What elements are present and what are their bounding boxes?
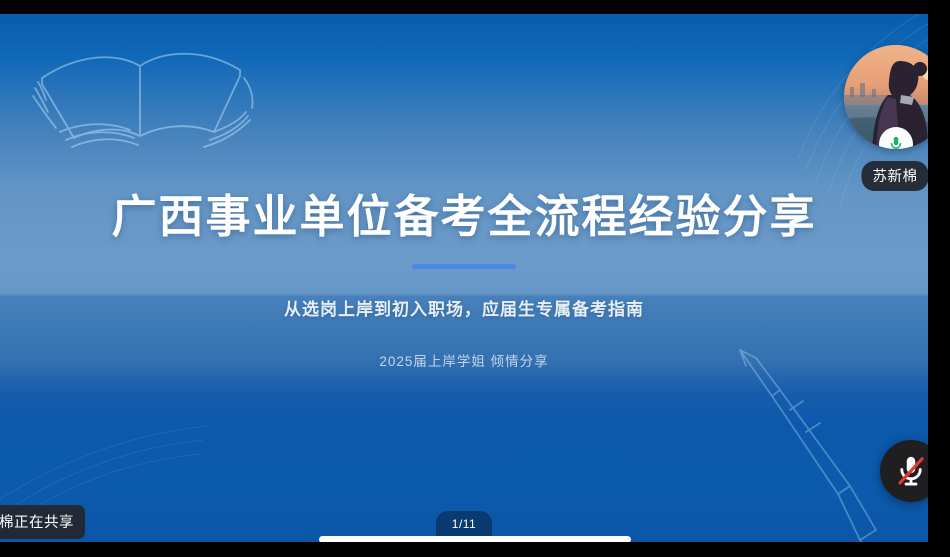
slide-subtitle: 从选岗上岸到初入职场，应届生专属备考指南	[40, 295, 888, 320]
letterbox-bottom	[0, 542, 950, 557]
pen-icon	[710, 344, 900, 542]
slide-title: 广西事业单位备考全流程经验分享	[40, 190, 888, 243]
open-book-icon	[18, 26, 270, 174]
microphone-off-icon	[894, 454, 928, 488]
microphone-icon	[887, 135, 905, 149]
participant-name-label: 苏新棉	[862, 161, 929, 191]
slide-text-block: 广西事业单位备考全流程经验分享 从选岗上岸到初入职场，应届生专属备考指南 202…	[0, 190, 928, 370]
letterbox-right	[928, 0, 950, 557]
slide-byline: 2025届上岸学姐 倾情分享	[40, 350, 888, 370]
screen-share-viewer: 广西事业单位备考全流程经验分享 从选岗上岸到初入职场，应届生专属备考指南 202…	[0, 0, 950, 557]
sharing-status-toast: 苏新棉正在共享	[0, 505, 85, 539]
shared-slide-surface[interactable]: 广西事业单位备考全流程经验分享 从选岗上岸到初入职场，应届生专属备考指南 202…	[0, 14, 928, 542]
letterbox-top	[0, 0, 950, 14]
title-accent-rule	[412, 264, 516, 269]
